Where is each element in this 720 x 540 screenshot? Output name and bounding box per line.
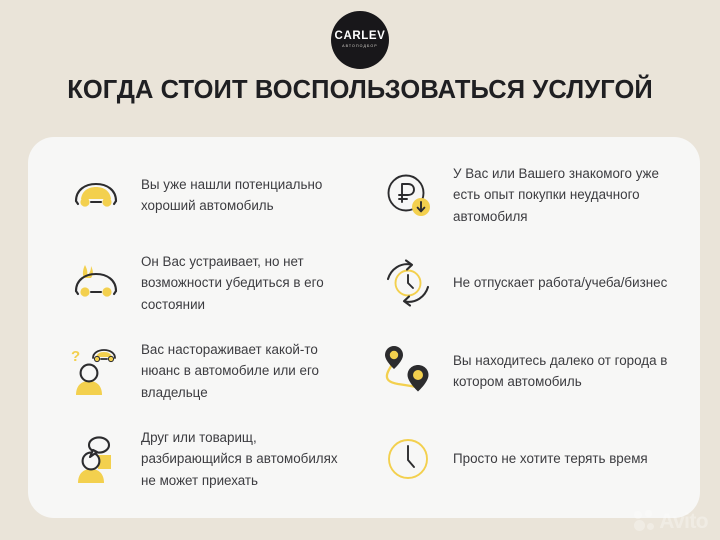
list-item: Он Вас устраивает, но нет возможности уб…	[68, 239, 350, 327]
avito-logo-icon	[634, 510, 656, 532]
list-item: Друг или товарищ, разбирающийся в автомо…	[68, 415, 350, 503]
car-icon	[68, 167, 124, 223]
logo-circle: CARLEV АВТОПОДБОР	[331, 11, 389, 69]
list-item-label: Не отпускает работа/учеба/бизнес	[453, 272, 667, 293]
car-spark-icon	[68, 255, 124, 311]
avito-watermark: Avito	[634, 510, 708, 532]
logo-tagline: АВТОПОДБОР	[342, 45, 378, 49]
brand-logo: CARLEV АВТОПОДБОР	[331, 11, 389, 69]
page-title: КОГДА СТОИТ ВОСПОЛЬЗОВАТЬСЯ УСЛУГОЙ	[0, 76, 720, 105]
person-speech-bubble-icon	[68, 431, 124, 487]
list-item-label: Вы находитесь далеко от города в котором…	[453, 350, 682, 392]
list-item-label: Просто не хотите терять время	[453, 448, 648, 469]
list-item: Вы уже нашли потенциально хороший автомо…	[68, 151, 350, 239]
list-item-label: Вас настораживает какой-то нюанс в автом…	[141, 339, 350, 403]
benefits-left-column: Вы уже нашли потенциально хороший автомо…	[28, 137, 364, 518]
avito-watermark-label: Avito	[659, 511, 708, 532]
list-item-label: Он Вас устраивает, но нет возможности уб…	[141, 251, 350, 315]
list-item: ? Вас настораживает какой-то нюанс в авт…	[68, 327, 350, 415]
svg-text:?: ?	[71, 348, 80, 365]
clock-refresh-icon	[380, 255, 436, 311]
ruble-down-arrow-icon	[380, 167, 436, 223]
clock-icon	[380, 431, 436, 487]
list-item-label: Друг или товарищ, разбирающийся в автомо…	[141, 427, 350, 491]
benefits-right-column: У Вас или Вашего знакомого уже есть опыт…	[364, 137, 700, 518]
list-item: Не отпускает работа/учеба/бизнес	[374, 239, 682, 327]
benefits-columns: Вы уже нашли потенциально хороший автомо…	[28, 137, 700, 518]
person-question-car-icon: ?	[68, 343, 124, 399]
logo-brand-name: CARLEV	[335, 31, 386, 43]
map-route-pins-icon	[380, 343, 436, 399]
list-item-label: Вы уже нашли потенциально хороший автомо…	[141, 174, 350, 216]
list-item-label: У Вас или Вашего знакомого уже есть опыт…	[453, 163, 682, 227]
benefits-card: Вы уже нашли потенциально хороший автомо…	[28, 137, 700, 518]
list-item: У Вас или Вашего знакомого уже есть опыт…	[374, 151, 682, 239]
list-item: Вы находитесь далеко от города в котором…	[374, 327, 682, 415]
list-item: Просто не хотите терять время	[374, 415, 682, 503]
